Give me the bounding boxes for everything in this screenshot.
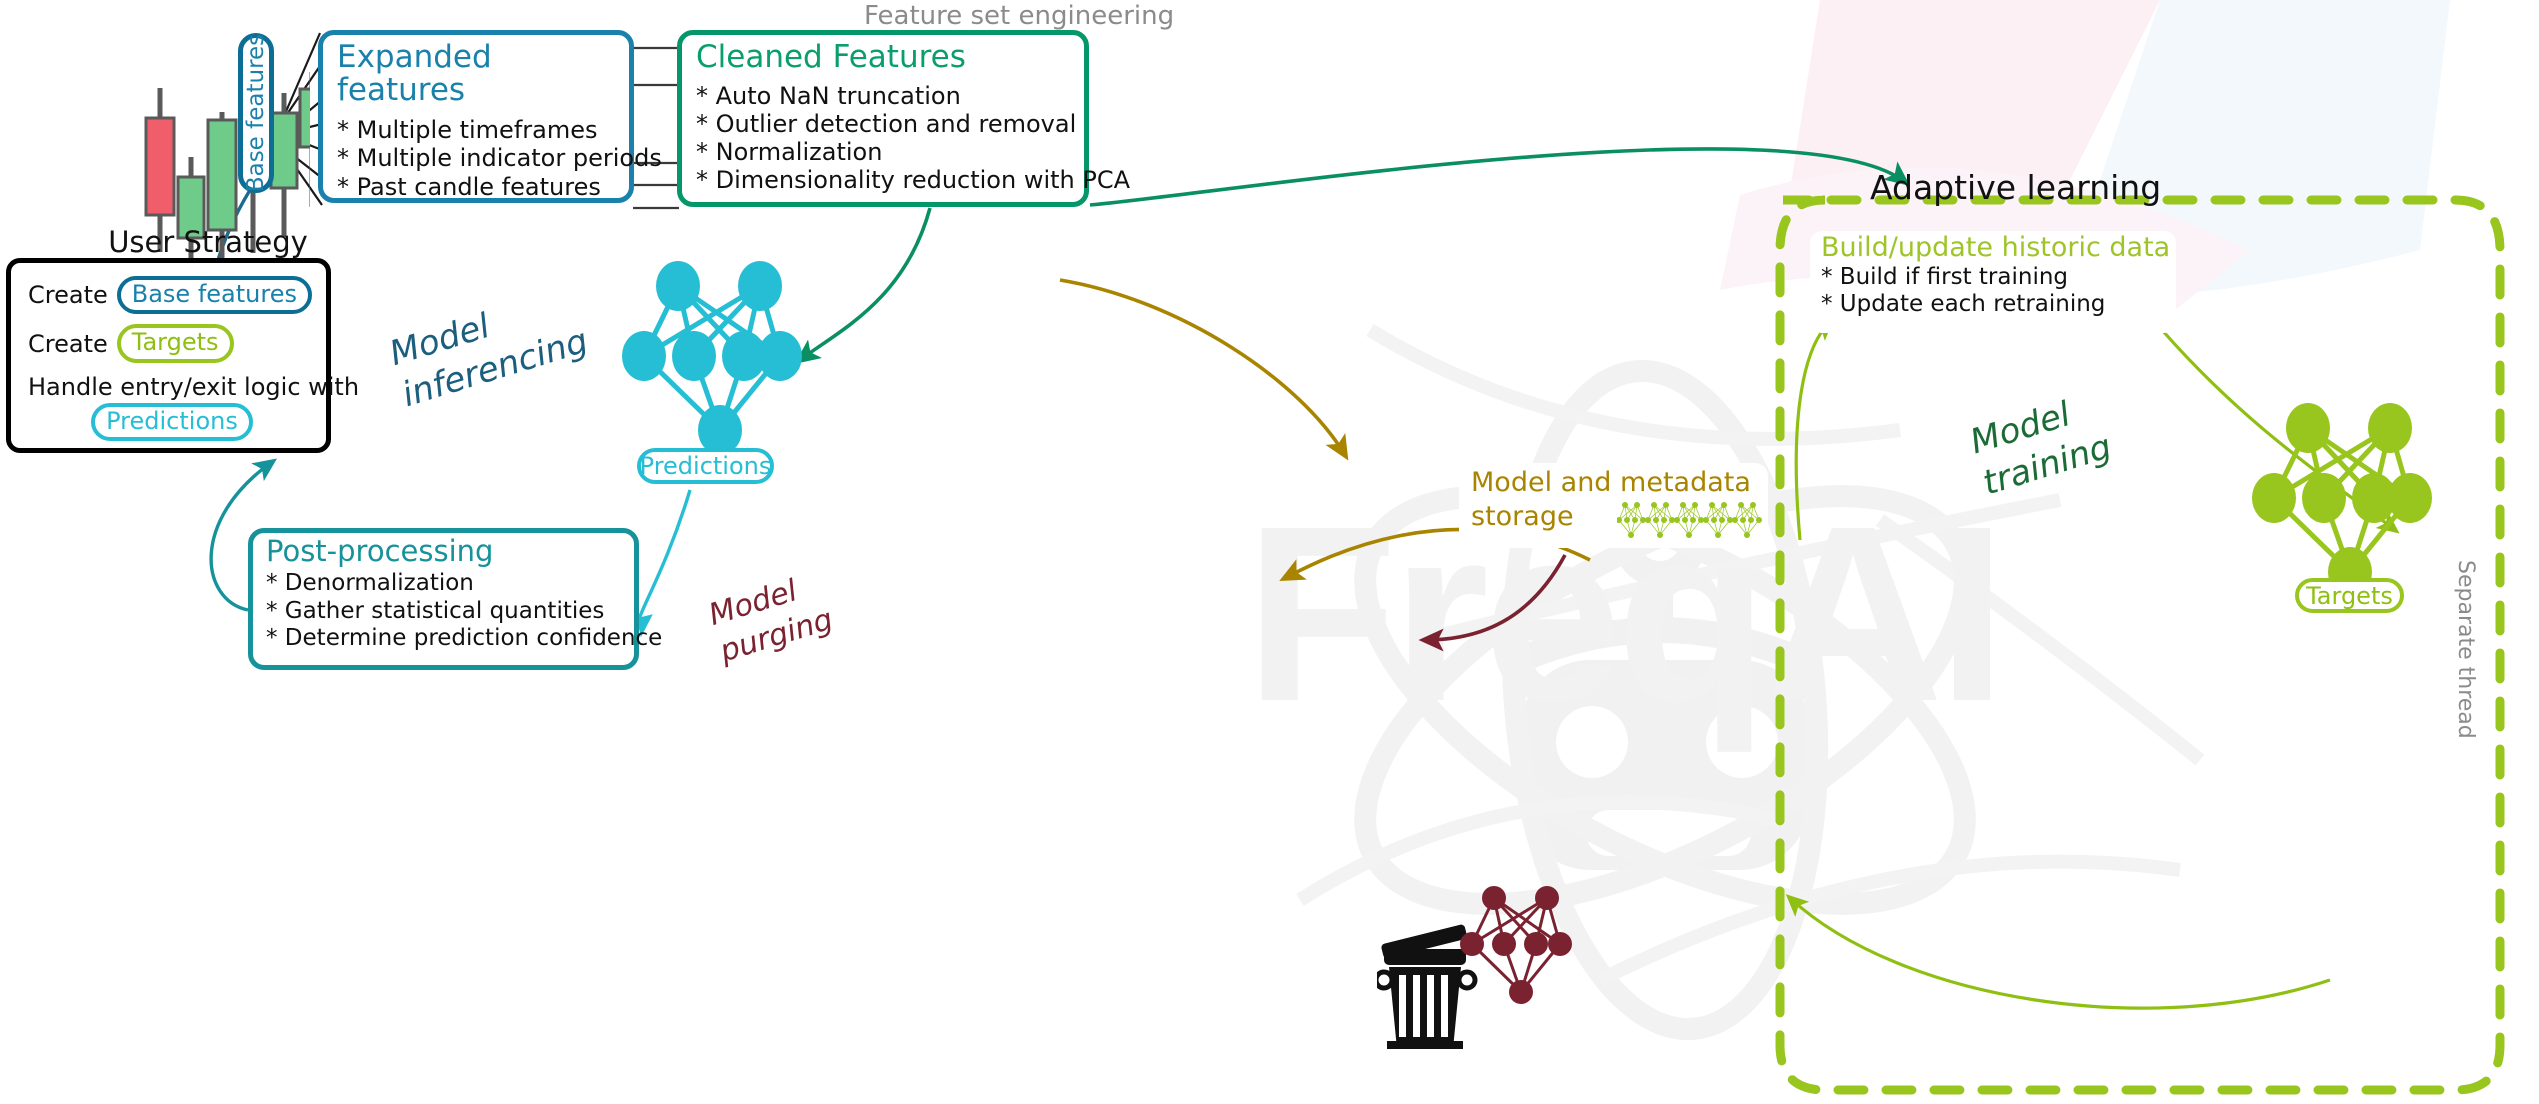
targets-tag[interactable]: Targets	[117, 324, 234, 362]
targets-pill-right[interactable]: Targets	[2295, 578, 2404, 613]
model-purging-label: Model purging	[705, 565, 838, 671]
create-label-2: Create	[28, 330, 108, 358]
list-item: * Gather statistical quantities	[266, 598, 634, 625]
list-item: * Multiple timeframes	[337, 116, 629, 144]
user-strategy-row-base-features: Create Base features	[28, 276, 326, 314]
green-neural-network-icon	[2250, 400, 2450, 600]
list-item: * Auto NaN truncation	[696, 82, 1084, 110]
user-strategy-box[interactable]: Create Base features Create Targets Hand…	[6, 258, 331, 453]
list-item: * Multiple indicator periods	[337, 144, 629, 172]
list-item: * Past candle features	[337, 173, 629, 201]
predictions-tag[interactable]: Predictions	[91, 403, 253, 441]
separate-thread-label: Separate thread	[2453, 560, 2478, 739]
adaptive-learning-label: Adaptive learning	[1870, 168, 2161, 207]
expanded-features-box[interactable]: Expanded features * Multiple timeframes …	[318, 30, 634, 203]
post-processing-bullets: * Denormalization * Gather statistical q…	[253, 566, 634, 651]
base-features-pill-label: Base features	[243, 34, 269, 192]
predictions-pill-label: Predictions	[640, 452, 772, 480]
expanded-features-title: Expanded features	[323, 35, 629, 106]
list-item: * Outlier detection and removal	[696, 110, 1084, 138]
expanded-features-bullets: * Multiple timeframes * Multiple indicat…	[323, 106, 629, 201]
post-processing-box[interactable]: Post-processing * Denormalization * Gath…	[248, 528, 639, 670]
cleaned-features-bullets: * Auto NaN truncation * Outlier detectio…	[682, 74, 1084, 195]
cleaned-features-title: Cleaned Features	[682, 35, 1084, 74]
model-metadata-storage-box[interactable]: Model and metadata storage	[1459, 463, 1768, 548]
storage-label-line1: Model and metadata	[1459, 463, 1768, 497]
list-item: * Dimensionality reduction with PCA	[696, 166, 1084, 194]
build-update-bullets: * Build if first training * Update each …	[1810, 262, 2176, 318]
targets-pill-label: Targets	[2306, 582, 2393, 610]
predictions-pill[interactable]: Predictions	[637, 448, 774, 484]
entry-exit-logic-label: Handle entry/exit logic with	[28, 373, 326, 401]
diagram-canvas: FreqAI	[0, 0, 2539, 1104]
list-item: * Update each retraining	[1821, 291, 2176, 318]
model-training-label: Model training	[1965, 385, 2116, 505]
user-strategy-title: User Strategy	[83, 225, 333, 259]
dark-red-neural-network-icon	[1456, 880, 1586, 1010]
list-item: * Build if first training	[1821, 264, 2176, 291]
base-features-tag[interactable]: Base features	[117, 276, 312, 314]
model-inferencing-label: Model inferencing	[385, 279, 593, 416]
user-strategy-row-targets: Create Targets	[28, 324, 326, 362]
cleaned-features-box[interactable]: Cleaned Features * Auto NaN truncation *…	[677, 30, 1089, 207]
list-item: * Determine prediction confidence	[266, 625, 634, 652]
build-update-historic-data-box[interactable]: Build/update historic data * Build if fi…	[1810, 231, 2176, 333]
stored-networks-icon	[1617, 499, 1762, 541]
create-label-1: Create	[28, 281, 108, 309]
base-features-pill[interactable]: Base features	[238, 33, 274, 193]
build-update-title: Build/update historic data	[1810, 231, 2176, 262]
list-item: * Denormalization	[266, 570, 634, 597]
user-strategy-row-logic: Handle entry/exit logic with Predictions	[28, 373, 326, 441]
post-processing-title: Post-processing	[253, 533, 634, 566]
feature-set-engineering-label: Feature set engineering	[864, 1, 1174, 31]
list-item: * Normalization	[696, 138, 1084, 166]
cyan-neural-network-icon	[620, 258, 820, 458]
